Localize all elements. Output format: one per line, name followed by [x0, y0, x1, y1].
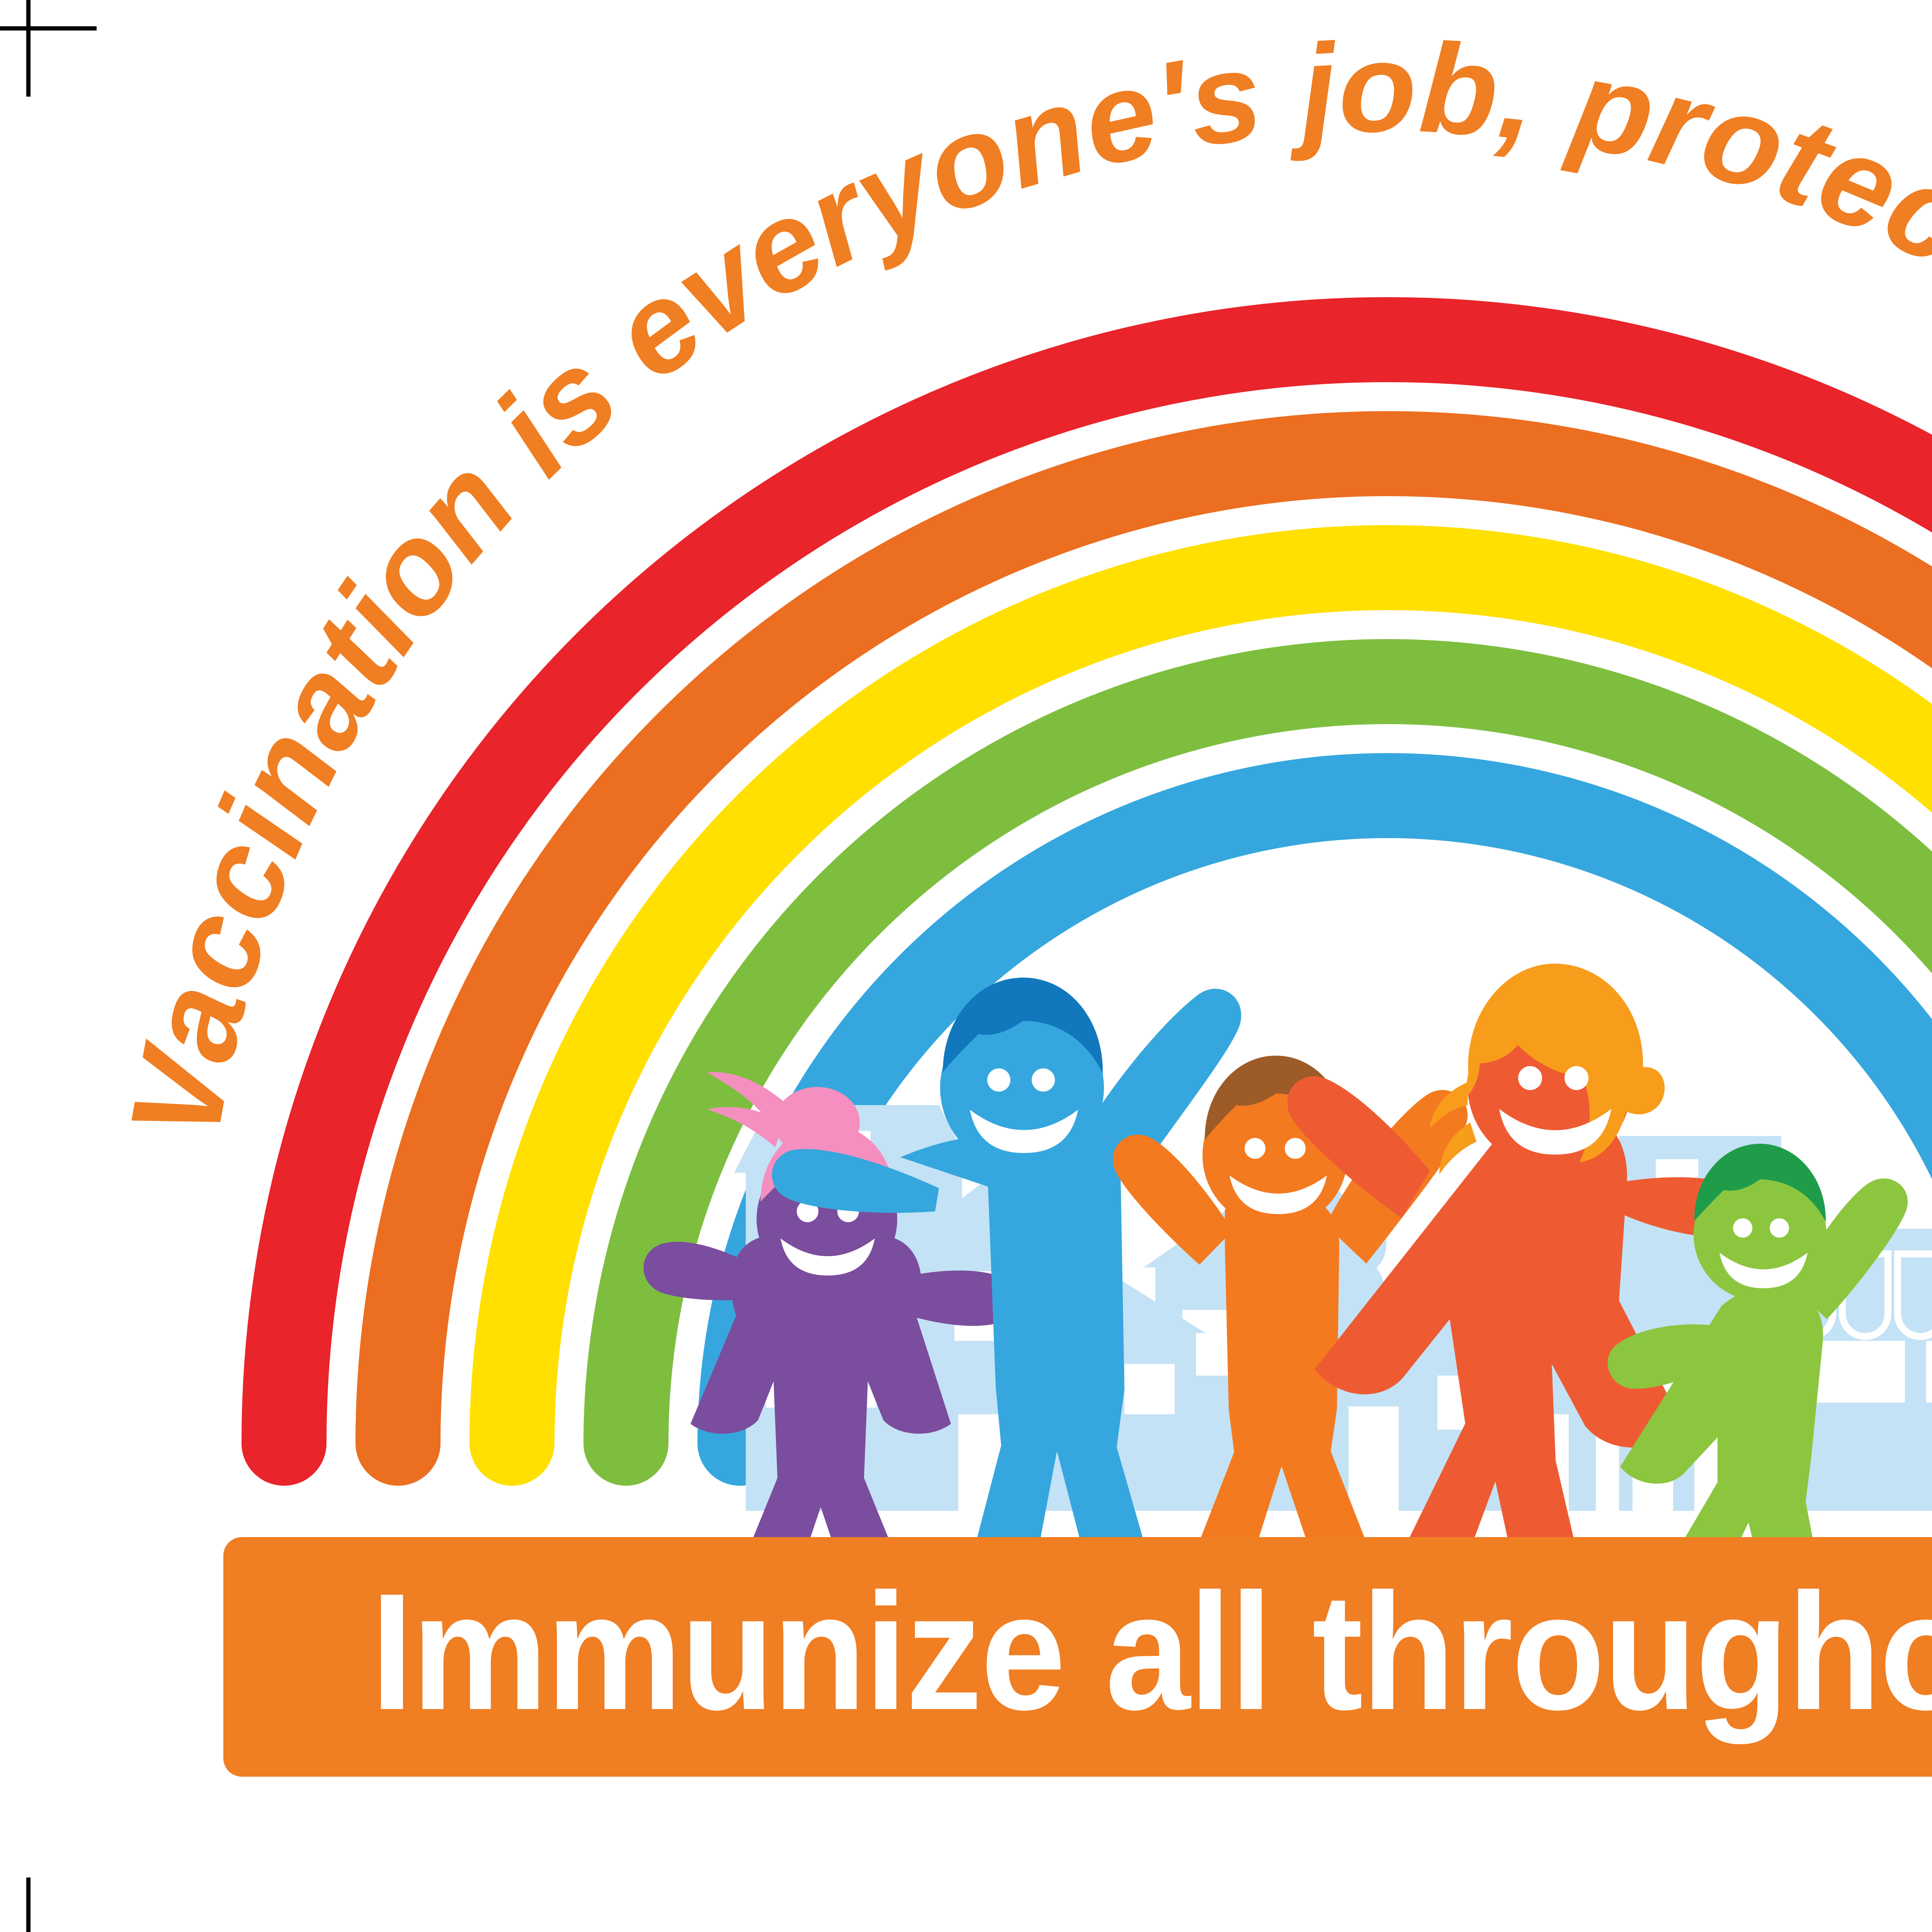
- poster-canvas: Vaccination is everyone's job, protect y…: [0, 0, 1932, 1932]
- banner-strip: Immunize all throughout life.: [223, 1537, 1932, 1777]
- banner-headline: Immunize all throughout life.: [371, 1569, 1932, 1745]
- poster-artwork: Vaccination is everyone's job, protect y…: [0, 0, 1932, 1932]
